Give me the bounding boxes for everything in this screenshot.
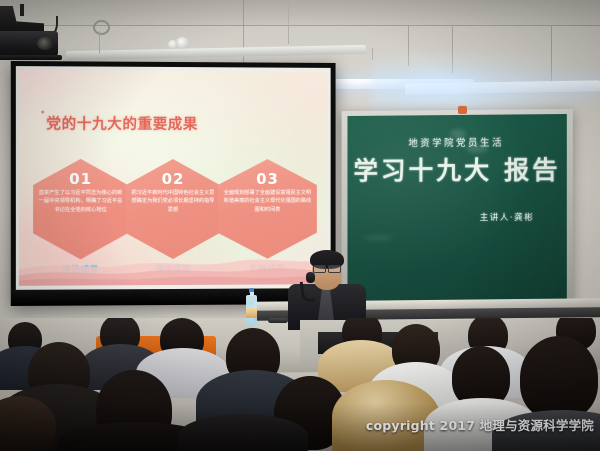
chalkboard-main-title: 学习十九大 报告 (347, 150, 566, 187)
microphone-head (306, 272, 315, 283)
speaker-person (288, 250, 366, 328)
light-hanger (288, 0, 289, 44)
board-clip-icon (458, 106, 467, 114)
hexagon-number-3: 03 (218, 170, 317, 188)
copyright-watermark: copyright 2017 地理与资源科学学院 (366, 415, 594, 434)
hexagon-text-1: 选举产生了以习近平同志为核心的新一届中央领导机构，明确了习近平总书记在全党的核心… (38, 189, 123, 214)
cable-hook-icon (93, 20, 110, 35)
title-bullet-icon (41, 111, 44, 114)
slide-title: 党的十九大的重要成果 (46, 113, 198, 135)
hexagon-number-1: 01 (33, 170, 128, 188)
hexagon-number-2: 02 (126, 170, 220, 188)
hexagon-text-2: 把习近平新时代中国特色社会主义思想确定为我们党必须长期坚持的指导思想 (131, 189, 215, 214)
chalkboard-frame: 地资学院党员生活 学习十九大 报告 主讲人·龚彬 (342, 109, 573, 314)
ceiling-seam (0, 25, 600, 26)
audience-shoulders (178, 414, 308, 451)
hexagon-text-3: 全面规划部署了全面建设富强民主文明和谐美丽的社会主义现代化强国的路线图和时间表 (223, 189, 312, 214)
light-hanger (372, 48, 373, 60)
audience-head-foreground (520, 336, 598, 420)
projector-lens (37, 37, 54, 50)
projector-plate (0, 55, 62, 60)
ceiling-projector-icon (0, 4, 64, 60)
projection-screen: 党的十九大的重要成果 01 选举产生了以习近平同志为核心的新一届中央领导机构，明… (11, 61, 336, 306)
microphone-icon (296, 272, 320, 298)
chalk-smudge (363, 235, 392, 241)
chalkboard-heading: 地资学院党员生活 (347, 134, 566, 149)
screen-surface: 党的十九大的重要成果 01 选举产生了以习近平同志为核心的新一届中央领导机构，明… (16, 66, 331, 290)
bottle-label (246, 308, 257, 318)
presentation-slide: 党的十九大的重要成果 01 选举产生了以习近平同志为核心的新一届中央领导机构，明… (19, 70, 328, 286)
chalkboard-speaker: 主讲人·龚彬 (480, 211, 567, 223)
ceiling (0, 0, 600, 26)
wall-seam (408, 26, 409, 66)
glasses-icon (313, 265, 341, 271)
light-hanger (99, 31, 100, 53)
wall-seam (243, 0, 244, 72)
wall-seam (551, 26, 552, 86)
wall-seam (452, 26, 453, 74)
slide-wave-decoration (19, 245, 328, 286)
ceiling-sensor-icon (168, 40, 178, 49)
projector-rod (20, 4, 24, 16)
chalkboard: 地资学院党员生活 学习十九大 报告 主讲人·龚彬 (347, 114, 566, 306)
classroom-photo: 党的十九大的重要成果 01 选举产生了以习近平同志为核心的新一届中央领导机构，明… (0, 0, 600, 451)
